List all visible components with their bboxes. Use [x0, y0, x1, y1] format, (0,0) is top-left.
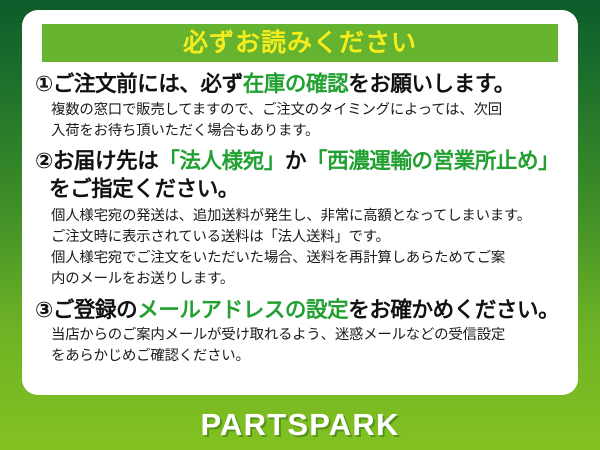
section-2-marker: ② [35, 149, 53, 173]
notice-title-bar: 必ずお読みください [42, 24, 558, 62]
section-1-heading-highlight: 在庫の確認 [243, 72, 349, 96]
section-3-body-line-1: 当店からのご案内メールが受け取れるよう、迷惑メールなどの受信設定 [51, 325, 562, 346]
section-3-heading: ③ご登録のメールアドレスの設定をお確かめください。 [35, 297, 562, 324]
section-2-heading-highlight-seino: 「西濃運輸の営業所止め」 [306, 149, 559, 173]
section-2-body-line-1: 個人様宅宛の発送は、追加送料が発生し、非常に高額となってしまいます。 [51, 206, 562, 227]
section-3-body-line-2: をあらかじめご確認ください。 [51, 346, 562, 367]
section-1-body-line-2: 入荷をお待ち頂いただく場合もあります。 [51, 121, 562, 142]
section-1-heading-post: をお願いします。 [348, 72, 515, 96]
section-2-body-line-2: ご注文時に表示されている送料は「法人送料」です。 [51, 227, 562, 248]
section-3-marker: ③ [35, 298, 53, 322]
section-1-marker: ① [35, 72, 53, 96]
section-2-heading: ②お届け先は「法人様宛」か「西濃運輸の営業所止め」 [35, 148, 562, 176]
section-2-body-line-3: 個人様宅宛でご注文をいただいた場合、送料を再計算しあらためてご案 [51, 248, 562, 269]
section-3-body: 当店からのご案内メールが受け取れるよう、迷惑メールなどの受信設定 をあらかじめご… [51, 325, 562, 367]
section-3-heading-highlight: メールアドレスの設定 [137, 298, 348, 322]
notice-title: 必ずお読みください [183, 31, 417, 56]
section-2-body-line-4: 内のメールをお送りします。 [51, 269, 562, 290]
footer-brand: PARTSPARK [0, 398, 600, 450]
section-2-heading-highlight-corporate: 「法人様宛」 [158, 149, 285, 173]
notice-section-3: ③ご登録のメールアドレスの設定をお確かめください。 当店からのご案内メールが受け… [35, 297, 562, 367]
section-1-body: 複数の窓口で販売してますので、ご注文のタイミングによっては、次回 入荷をお待ち頂… [51, 100, 562, 142]
section-3-heading-post: をお確かめください。 [348, 298, 559, 322]
section-2-heading-line-2: をご指定ください。 [35, 176, 562, 204]
section-1-body-line-1: 複数の窓口で販売してますので、ご注文のタイミングによっては、次回 [51, 100, 562, 121]
brand-name: PARTSPARK [200, 409, 399, 440]
notice-banner: 必ずお読みください ①ご注文前には、必ず在庫の確認をお願いします。 複数の窓口で… [0, 0, 600, 450]
notice-section-2: ②お届け先は「法人様宛」か「西濃運輸の営業所止め」 をご指定ください。 個人様宅… [35, 148, 562, 289]
notice-sections: ①ご注文前には、必ず在庫の確認をお願いします。 複数の窓口で販売してますので、ご… [22, 62, 578, 367]
section-2-heading-mid: か [285, 149, 306, 173]
section-1-heading: ①ご注文前には、必ず在庫の確認をお願いします。 [35, 71, 562, 98]
section-2-heading-pre: お届け先は [53, 149, 159, 173]
section-2-body: 個人様宅宛の発送は、追加送料が発生し、非常に高額となってしまいます。 ご注文時に… [51, 206, 562, 290]
section-1-heading-pre: ご注文前には、必ず [53, 72, 243, 96]
notice-section-1: ①ご注文前には、必ず在庫の確認をお願いします。 複数の窓口で販売してますので、ご… [35, 71, 562, 141]
notice-card: 必ずお読みください ①ご注文前には、必ず在庫の確認をお願いします。 複数の窓口で… [22, 10, 578, 395]
section-3-heading-pre: ご登録の [53, 298, 137, 322]
